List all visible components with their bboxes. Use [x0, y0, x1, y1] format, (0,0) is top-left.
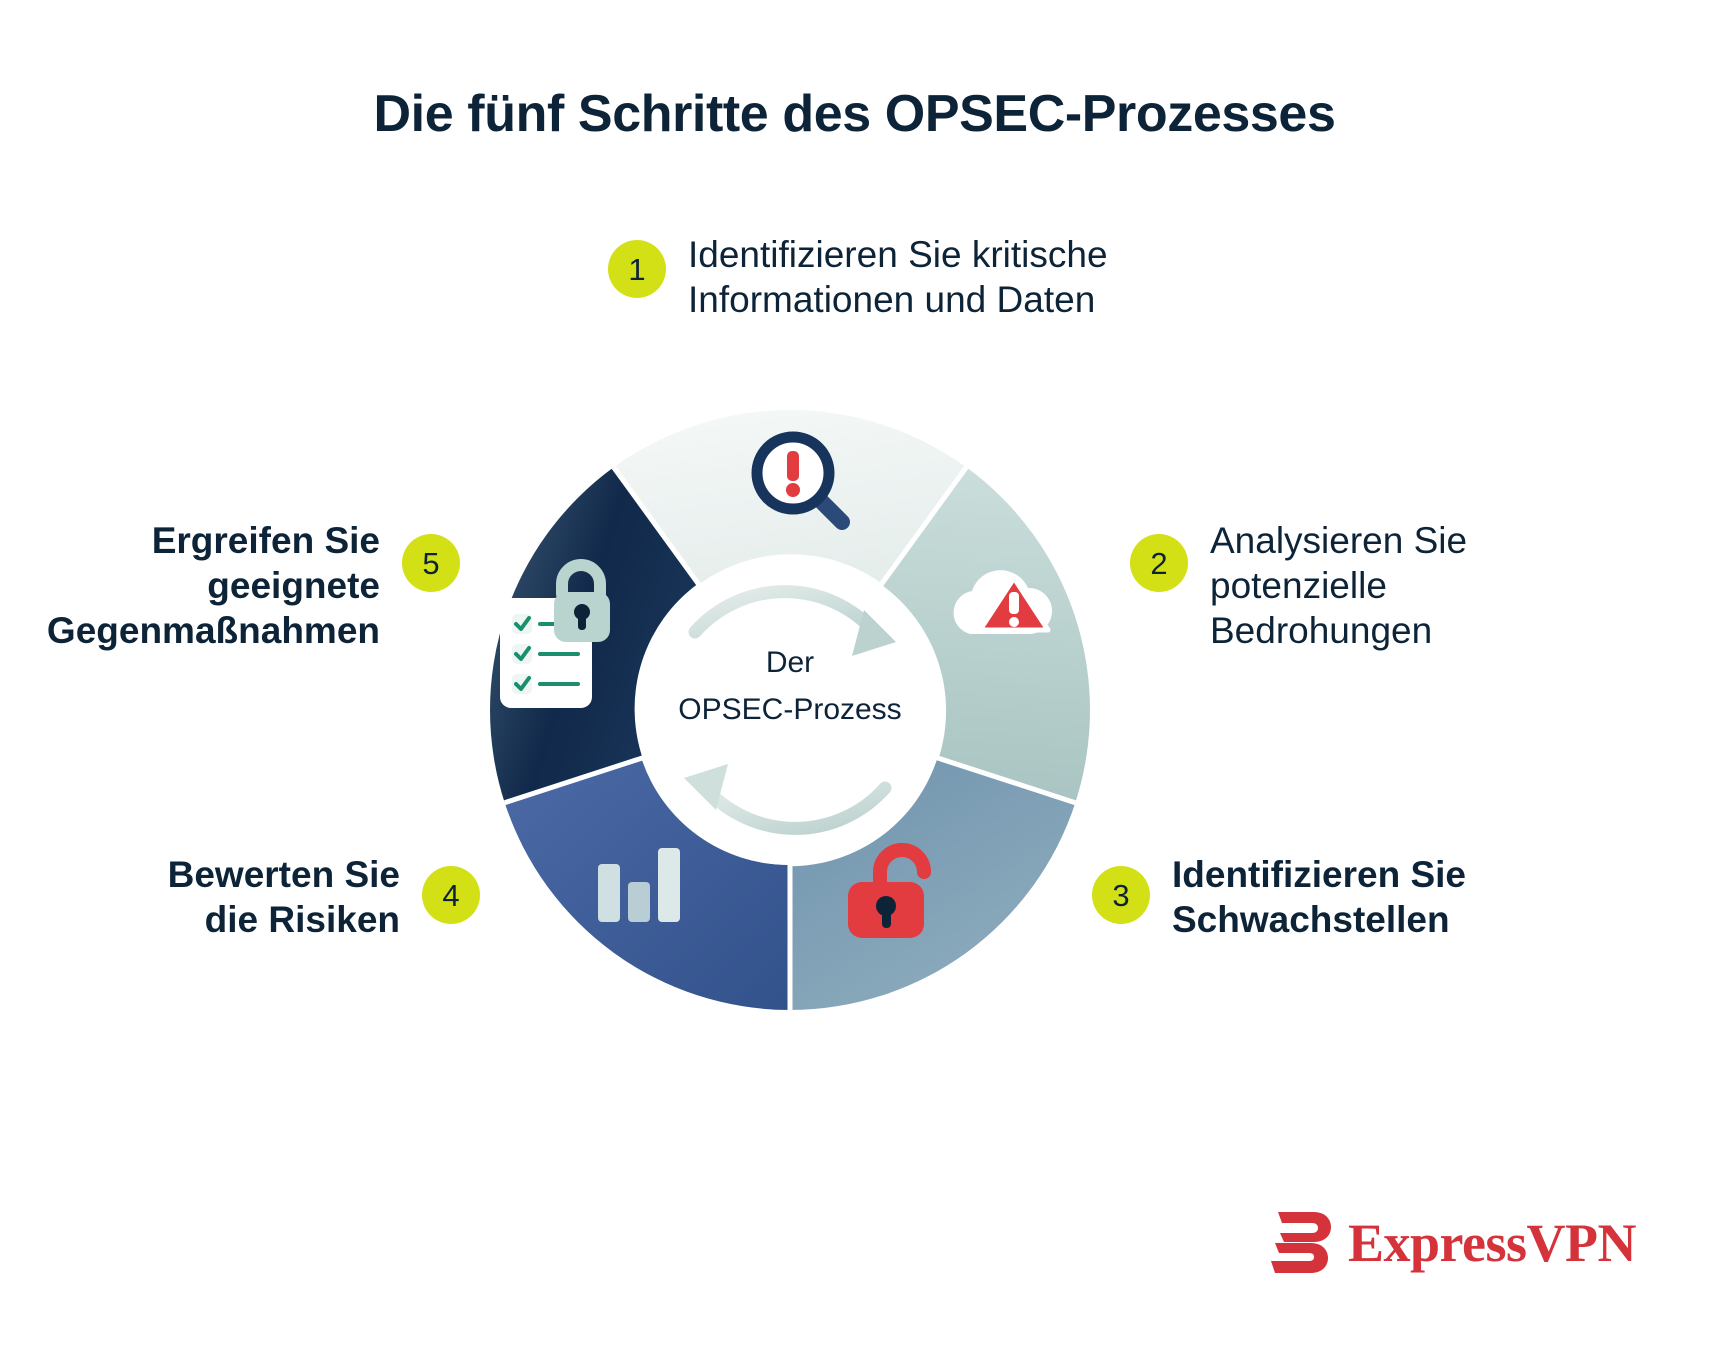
- center-label-line1: Der: [490, 640, 1090, 687]
- step-4-label: Bewerten Sie die Risiken: [168, 852, 400, 942]
- step-1[interactable]: 1 Identifizieren Sie kritische Informati…: [608, 232, 1108, 322]
- expressvpn-logo[interactable]: ExpressVPN: [1258, 1210, 1636, 1276]
- page-title: Die fünf Schritte des OPSEC-Prozesses: [0, 84, 1709, 144]
- expressvpn-e-icon: [1258, 1210, 1332, 1276]
- step-3[interactable]: 3 Identifizieren Sie Schwachstellen: [1092, 852, 1466, 942]
- step-4-badge: 4: [422, 866, 480, 924]
- step-1-badge: 1: [608, 240, 666, 298]
- step-3-badge: 3: [1092, 866, 1150, 924]
- step-4[interactable]: Bewerten Sie die Risiken 4: [140, 852, 480, 942]
- step-5-label: Ergreifen Sie geeignete Gegenmaßnahmen: [47, 518, 380, 653]
- step-2[interactable]: 2 Analysieren Sie potenzielle Bedrohunge…: [1130, 518, 1467, 653]
- step-1-label: Identifizieren Sie kritische Information…: [688, 232, 1108, 322]
- donut-center-label: Der OPSEC-Prozess: [490, 640, 1090, 733]
- step-3-label: Identifizieren Sie Schwachstellen: [1172, 852, 1466, 942]
- step-5-badge: 5: [402, 534, 460, 592]
- expressvpn-wordmark: ExpressVPN: [1348, 1216, 1636, 1270]
- center-label-line2: OPSEC-Prozess: [490, 687, 1090, 734]
- step-2-label: Analysieren Sie potenzielle Bedrohungen: [1210, 518, 1467, 653]
- step-5[interactable]: Ergreifen Sie geeignete Gegenmaßnahmen 5: [20, 518, 460, 653]
- step-2-badge: 2: [1130, 534, 1188, 592]
